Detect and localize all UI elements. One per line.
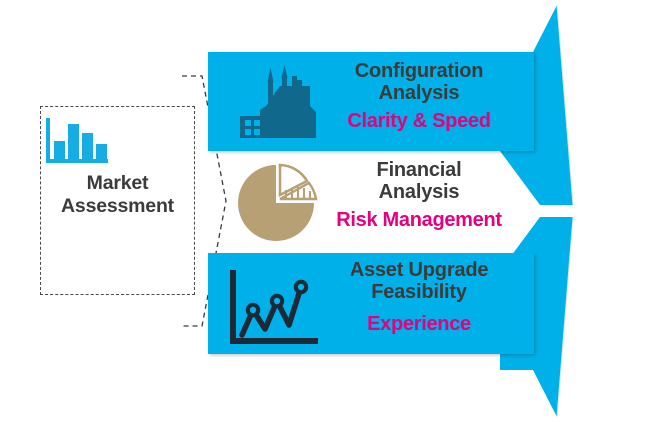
stage-3-text: Asset Upgrade Feasibility Experience [310,259,528,335]
stage-1-title-line1: Configuration [310,60,528,82]
market-assessment-label: Market Assessment [30,172,205,217]
stage-financial-analysis[interactable]: Financial Analysis Risk Management [208,153,534,249]
stage-asset-upgrade-feasibility[interactable]: Asset Upgrade Feasibility Experience [208,253,534,354]
stage-1-accent: Clarity & Speed [310,110,528,132]
diagram-canvas: Market Assessment [0,0,647,422]
stage-2-title-line2: Analysis [310,181,528,203]
stage-1-title-line2: Analysis [310,82,528,104]
stage-2-title-line1: Financial [310,159,528,181]
bar-chart-icon [44,116,114,168]
stage-3-title-line2: Feasibility [310,281,528,303]
stage-configuration-analysis[interactable]: Configuration Analysis Clarity & Speed [208,52,534,151]
stage-2-text: Financial Analysis Risk Management [310,159,528,231]
market-assessment-label-line1: Market [30,172,205,195]
stage-3-title-line1: Asset Upgrade [310,259,528,281]
market-assessment-label-line2: Assessment [30,195,205,218]
stage-1-text: Configuration Analysis Clarity & Speed [310,60,528,132]
stage-2-accent: Risk Management [310,209,528,231]
stage-3-accent: Experience [310,313,528,335]
